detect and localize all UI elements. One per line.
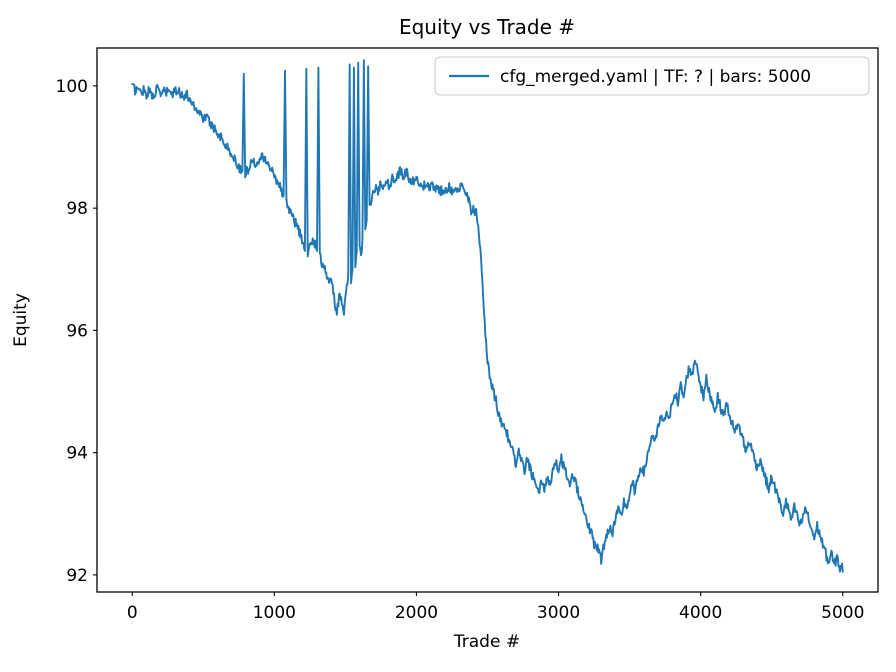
y-tick-label: 96	[66, 321, 88, 341]
page-title: Equity vs Trade #	[399, 15, 575, 39]
x-tick-label: 1000	[253, 603, 296, 623]
legend-entry-label: cfg_merged.yaml | TF: ? | bars: 5000	[500, 67, 811, 87]
x-tick-label: 0	[127, 603, 138, 623]
equity-line-chart: Equity vs Trade # 92949698100 0100020003…	[0, 0, 896, 672]
y-axis-label: Equity	[11, 293, 31, 347]
y-tick-label: 100	[56, 77, 88, 97]
x-tick-label: 2000	[395, 603, 438, 623]
x-tick-label: 5000	[821, 603, 864, 623]
y-tick-label: 98	[66, 199, 88, 219]
x-tick-label: 4000	[679, 603, 722, 623]
matplotlib-figure: Equity vs Trade # 92949698100 0100020003…	[0, 0, 896, 672]
legend[interactable]: cfg_merged.yaml | TF: ? | bars: 5000	[435, 57, 869, 95]
y-tick-label: 92	[66, 566, 88, 586]
x-axis-label: Trade #	[453, 632, 520, 652]
y-tick-label: 94	[66, 444, 88, 464]
figure-background	[0, 0, 896, 672]
x-tick-label: 3000	[537, 603, 580, 623]
